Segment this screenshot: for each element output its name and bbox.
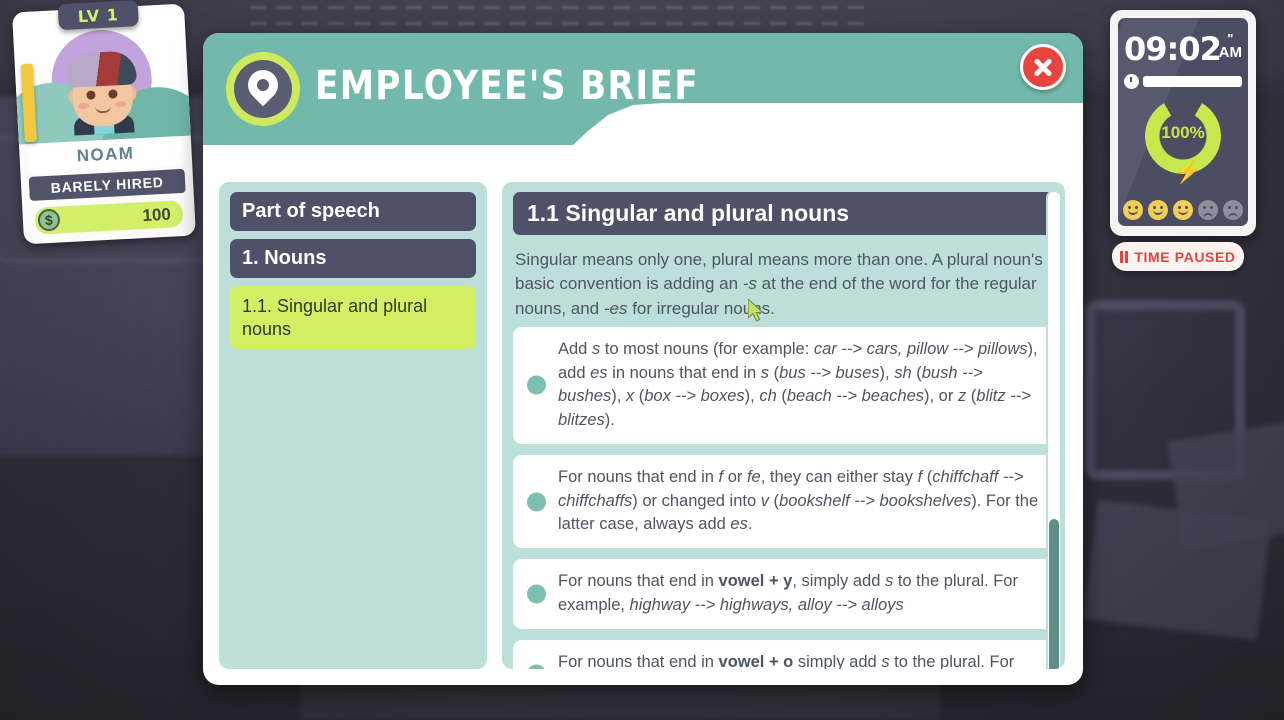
toc-item-label: 1.1. Singular and plural nouns: [242, 296, 427, 339]
content-panel: 1.1 Singular and plural nouns Singular m…: [502, 182, 1065, 669]
mood-sad-icon: [1223, 200, 1243, 220]
emphasis-text: highway --> highways, alloy --> alloys: [630, 596, 904, 614]
emphasis-text: v: [761, 492, 769, 510]
rule-card: For nouns that end in vowel + y, simply …: [513, 559, 1054, 629]
emphasis-text: es: [730, 515, 747, 533]
emphasis-text: s: [881, 653, 889, 669]
emphasis-text: car --> cars, pillow --> pillows: [814, 340, 1028, 358]
rule-card: For nouns that end in f or fe, they can …: [513, 455, 1054, 548]
emphasis-text: x: [626, 387, 634, 405]
emphasis-text: fe: [747, 468, 761, 486]
emphasis-text: bookshelf --> bookshelves: [779, 492, 971, 510]
rule-text: For nouns that end in vowel + o simply a…: [558, 653, 1014, 669]
clock-time: 09:02: [1124, 30, 1221, 68]
close-button[interactable]: [1020, 44, 1066, 90]
emphasis-text: ch: [759, 387, 776, 405]
emphasis-text: s: [885, 572, 893, 590]
time-paused-badge[interactable]: TIME PAUSED: [1112, 242, 1244, 271]
emphasis-text: z: [958, 387, 966, 405]
toc-item-0[interactable]: Part of speech: [230, 192, 476, 231]
content-title: 1.1 Singular and plural nouns: [513, 192, 1054, 235]
content-scrollbar[interactable]: [1046, 190, 1062, 669]
bullet-dot-icon: [527, 376, 546, 395]
character-level-badge: LV 1: [58, 0, 139, 30]
avatar: [62, 46, 142, 136]
energy-percent-label: 100%: [1145, 123, 1221, 143]
toc-item-2[interactable]: 1.1. Singular and plural nouns: [230, 286, 476, 349]
mood-happy-icon: [1123, 200, 1143, 220]
emphasis-text: beach --> beaches: [787, 387, 924, 405]
location-pin-icon: [242, 64, 284, 106]
rule-card: Add s to most nouns (for example: car --…: [513, 327, 1054, 444]
shift-progress-row: [1124, 74, 1242, 89]
close-icon: [1032, 56, 1054, 78]
mood-meter: [1123, 200, 1243, 220]
mood-sad-icon: [1198, 200, 1218, 220]
rule-card: For nouns that end in vowel + o simply a…: [513, 640, 1054, 669]
brief-logo-inner: [234, 60, 292, 118]
bullet-dot-icon: [527, 584, 546, 603]
strong-text: vowel + y: [719, 572, 793, 590]
table-of-contents: Part of speech1. Nouns1.1. Singular and …: [219, 182, 487, 669]
background-paper: [1083, 500, 1271, 640]
employees-brief-dialog: EMPLOYEE'S BRIEF Part of speech1. Nouns1…: [203, 33, 1083, 685]
clock-icon: [1124, 74, 1139, 89]
content-intro: Singular means only one, plural means mo…: [513, 235, 1054, 327]
rule-text: For nouns that end in vowel + y, simply …: [558, 572, 1018, 614]
rule-text: Add s to most nouns (for example: car --…: [558, 340, 1038, 429]
bullet-dot-icon: [527, 492, 546, 511]
character-card[interactable]: NOAM BARELY HIRED $ 100 LV 1: [12, 4, 196, 245]
mood-happy-icon: [1173, 200, 1193, 220]
strong-text: vowel + o: [719, 653, 794, 669]
toc-item-label: Part of speech: [242, 200, 380, 222]
emphasis-text: s: [592, 340, 600, 358]
shift-progress-bar: [1143, 76, 1242, 87]
emphasis-text: -es: [604, 299, 628, 318]
lightning-bolt-icon: ⚡: [1174, 161, 1201, 183]
emphasis-text: f: [719, 468, 724, 486]
character-money: $ 100: [34, 200, 183, 235]
emphasis-text: es: [590, 364, 607, 382]
toc-item-1[interactable]: 1. Nouns: [230, 239, 476, 278]
tablet-screen: 09:02 " AM 100% ⚡: [1118, 18, 1248, 226]
character-card-body: NOAM BARELY HIRED $ 100: [12, 4, 196, 245]
coin-icon: $: [37, 208, 60, 231]
rules-list: Add s to most nouns (for example: car --…: [513, 327, 1054, 669]
emphasis-text: -s: [743, 274, 757, 293]
emphasis-text: f: [918, 468, 923, 486]
character-role-badge: BARELY HIRED: [29, 169, 186, 201]
brief-logo-icon: [226, 52, 300, 126]
avatar-hair: [65, 50, 137, 88]
emphasis-text: sh: [894, 364, 911, 382]
bullet-dot-icon: [527, 665, 546, 669]
emphasis-text: s: [761, 364, 769, 382]
mood-happy-icon: [1148, 200, 1168, 220]
dialog-body: Part of speech1. Nouns1.1. Singular and …: [203, 145, 1083, 685]
status-tablet[interactable]: 09:02 " AM 100% ⚡: [1110, 10, 1256, 236]
character-money-value: 100: [142, 204, 171, 225]
pause-icon: [1120, 251, 1128, 263]
rule-text: For nouns that end in f or fe, they can …: [558, 468, 1038, 534]
emphasis-text: bus --> buses: [779, 364, 879, 382]
content-scrollbar-thumb[interactable]: [1049, 519, 1059, 669]
clock-ampm: " AM: [1219, 32, 1242, 60]
dialog-title: EMPLOYEE'S BRIEF: [315, 63, 699, 109]
game-screen: NOAM BARELY HIRED $ 100 LV 1 09:02 " AM …: [0, 0, 1284, 720]
toc-item-label: 1. Nouns: [242, 247, 326, 269]
emphasis-text: box --> boxes: [644, 387, 744, 405]
clock-ampm-label: AM: [1219, 44, 1242, 61]
time-paused-label: TIME PAUSED: [1134, 249, 1235, 265]
